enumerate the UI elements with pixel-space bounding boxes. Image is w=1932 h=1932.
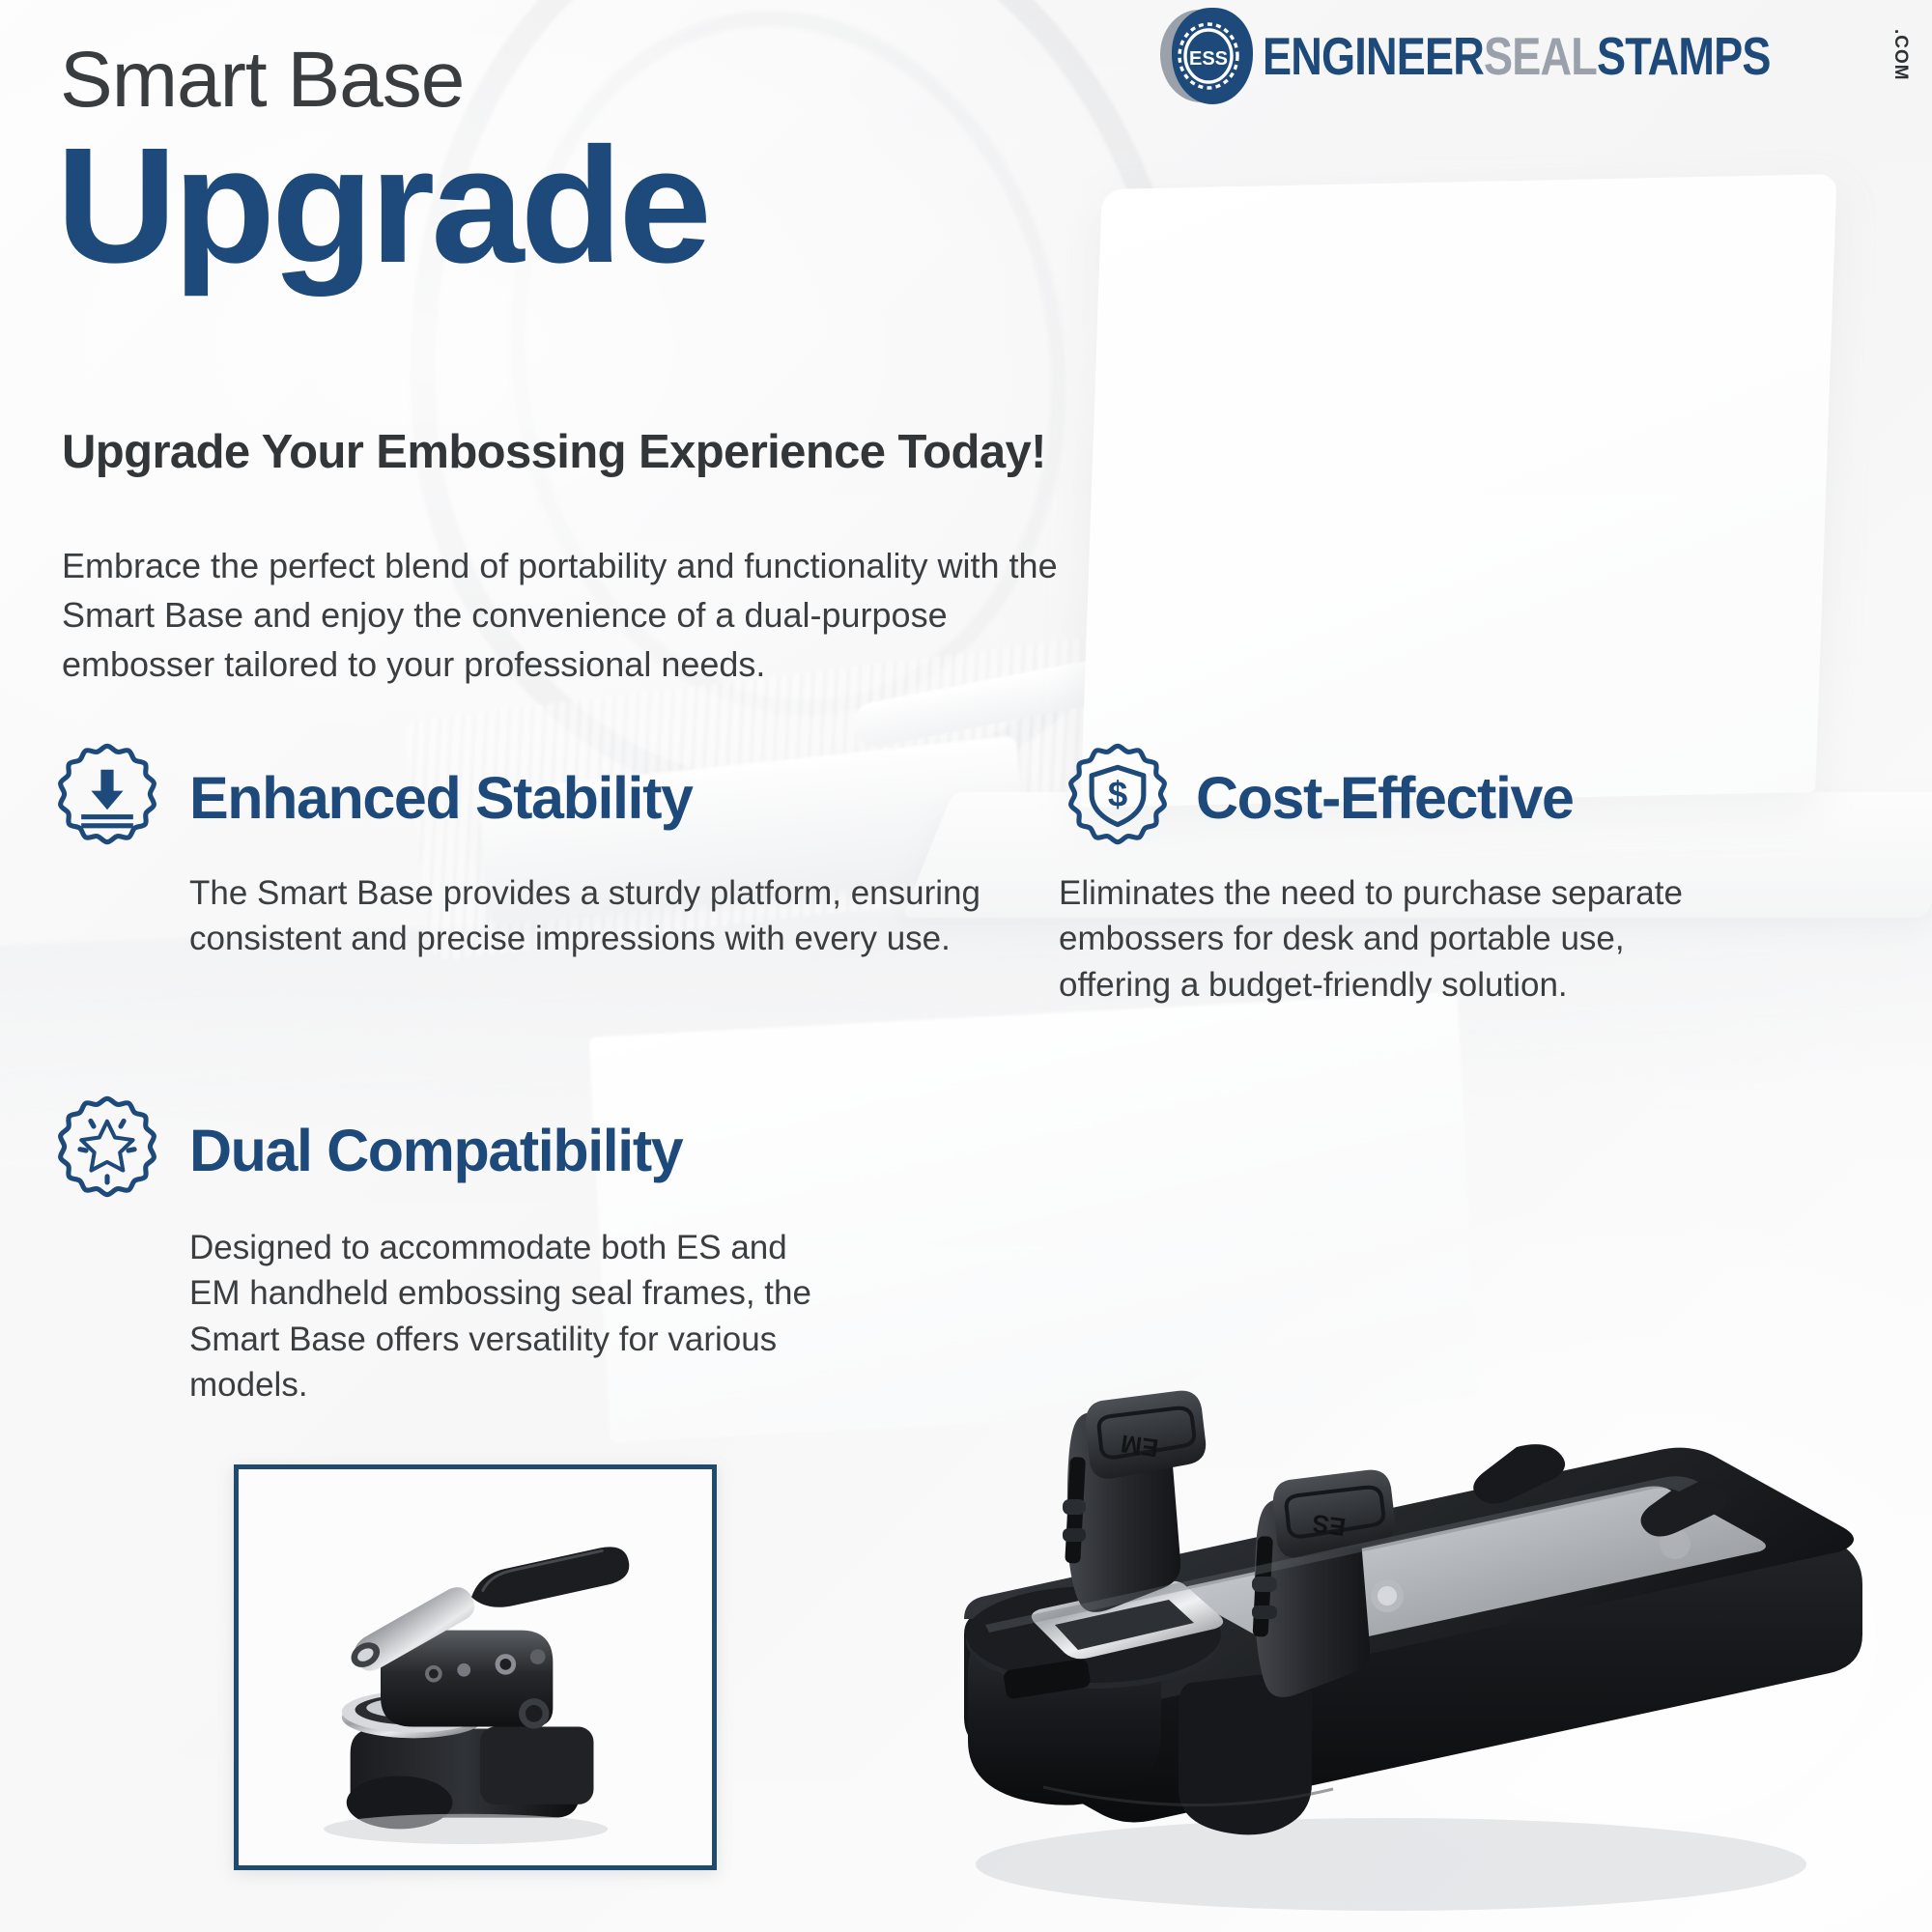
ess-badge-icon: ESS	[1156, 6, 1257, 106]
brand-logo[interactable]: ESS ENGINEER SEAL STAMPS .COM	[1156, 6, 1911, 106]
logo-wordmark: ENGINEER SEAL STAMPS	[1263, 25, 1771, 87]
intro-paragraph: Embrace the perfect blend of portability…	[62, 541, 1066, 689]
post-label-em: EM	[1119, 1429, 1160, 1463]
logo-word-stamps: STAMPS	[1597, 25, 1771, 87]
gear-icon: ESS	[1174, 17, 1243, 95]
feature-title: Cost-Effective	[1196, 764, 1574, 832]
feature-title: Enhanced Stability	[189, 764, 693, 832]
feature-body: Designed to accommodate both ES and EM h…	[189, 1225, 827, 1407]
shield-dollar-badge-icon: $	[1059, 739, 1177, 857]
feature-enhanced-stability: Enhanced Stability The Smart Base provid…	[48, 739, 1014, 962]
feature-title: Dual Compatibility	[189, 1117, 682, 1184]
ess-monogram: ESS	[1189, 48, 1228, 70]
feature-cost-effective: $ Cost-Effective Eliminates the need to …	[1059, 739, 1928, 1008]
logo-tld: .COM	[1889, 29, 1911, 81]
infographic-canvas: ESS ENGINEER SEAL STAMPS .COM Smart Base…	[0, 0, 1932, 1932]
sparkle-star-badge-icon	[48, 1092, 166, 1209]
headline-hero: Upgrade	[56, 124, 708, 288]
headline-kicker: Smart Base	[60, 41, 464, 120]
inset-product-photo-frame	[234, 1464, 717, 1870]
press-down-arrow-badge-icon	[48, 739, 166, 857]
feature-body: Eliminates the need to purchase separate…	[1059, 870, 1735, 1008]
logo-word-seal: SEAL	[1484, 25, 1597, 87]
logo-word-engineer: ENGINEER	[1263, 25, 1484, 87]
svg-text:$: $	[1108, 775, 1127, 814]
smart-base-product-image: EM ES	[850, 1246, 1922, 1922]
headline-subhead: Upgrade Your Embossing Experience Today!	[62, 425, 1046, 479]
handheld-embosser-on-base-image	[239, 1469, 712, 1867]
post-label-es: ES	[1310, 1509, 1348, 1543]
feature-body: The Smart Base provides a sturdy platfor…	[189, 870, 991, 962]
